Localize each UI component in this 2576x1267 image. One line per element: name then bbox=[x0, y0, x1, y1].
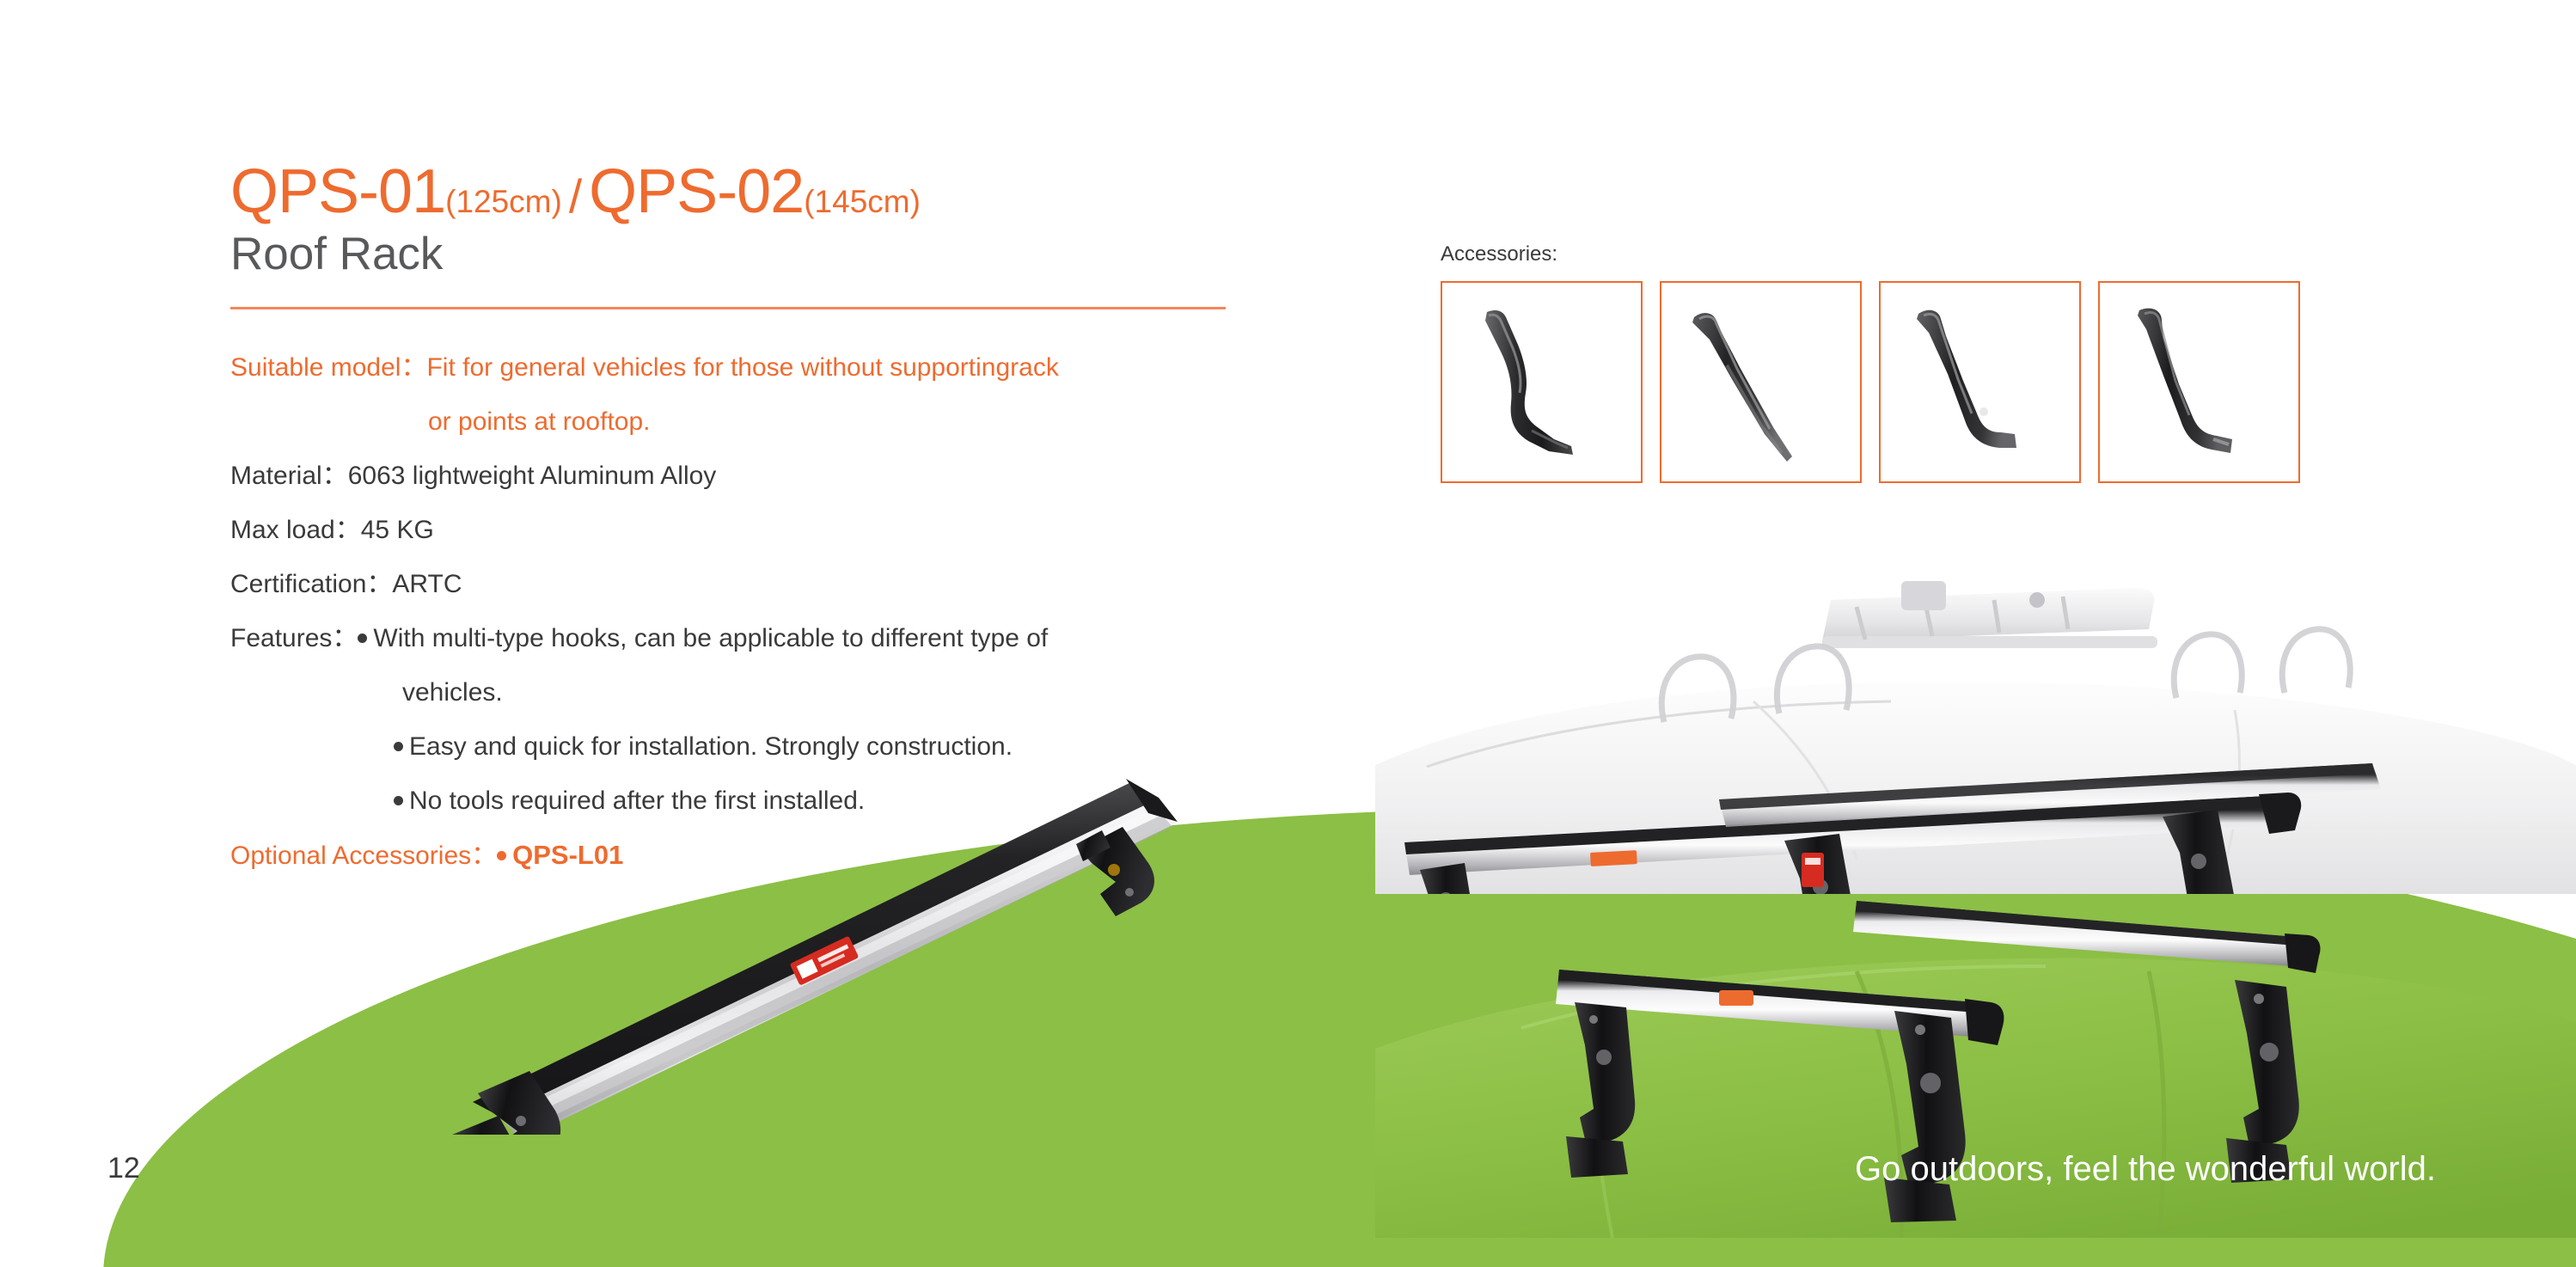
spec-label: Max load： bbox=[230, 516, 361, 544]
spec-value: 45 KG bbox=[361, 516, 434, 544]
spec-value: 6063 lightweight Aluminum Alloy bbox=[348, 462, 717, 490]
spec-label: Certification： bbox=[230, 570, 392, 598]
spec-row-max-load: Max load：45 KG bbox=[230, 503, 1288, 557]
page-title: QPS-01(125cm)/QPS-02(145cm) bbox=[230, 156, 921, 227]
feature-item-2: vehicles. bbox=[402, 678, 503, 707]
footer-tagline: Go outdoors, feel the wonderful world. bbox=[1855, 1150, 2436, 1189]
hook-variant-4-icon bbox=[2100, 283, 2298, 481]
product-photo-roof-rack-with-ladder bbox=[1375, 550, 2576, 894]
feature-item-1: With multi-type hooks, can be applicable… bbox=[373, 624, 1048, 652]
hook-variant-3-icon bbox=[1881, 283, 2079, 481]
spec-row-suitable-model-cont: or points at rooftop. bbox=[230, 395, 1288, 449]
bullet-icon bbox=[394, 742, 403, 751]
page-number: 12 bbox=[107, 1152, 140, 1185]
accessories-row bbox=[1441, 281, 2300, 483]
bullet-icon bbox=[358, 633, 367, 643]
spec-value: ARTC bbox=[392, 570, 462, 598]
title-divider bbox=[230, 307, 1226, 309]
spec-row-suitable-model: Suitable model：Fit for general vehicles … bbox=[230, 340, 1288, 395]
accessories-label: Accessories: bbox=[1441, 242, 1557, 266]
spec-label: Suitable model： bbox=[230, 353, 426, 382]
spec-row-features-cont: vehicles. bbox=[230, 665, 1288, 719]
spec-row-features: Features：With multi-type hooks, can be a… bbox=[230, 611, 1288, 665]
model-1-label: QPS-01 bbox=[230, 157, 445, 226]
accessory-thumbnail-4[interactable] bbox=[2098, 281, 2300, 483]
feature-item-3: Easy and quick for installation. Strongl… bbox=[409, 732, 1013, 761]
model-2-label: QPS-02 bbox=[589, 157, 804, 226]
spec-row-certification: Certification：ARTC bbox=[230, 557, 1288, 611]
accessory-thumbnail-2[interactable] bbox=[1660, 281, 1862, 483]
features-label: Features： bbox=[230, 624, 358, 652]
spec-row-material: Material：6063 lightweight Aluminum Alloy bbox=[230, 449, 1288, 503]
accessory-thumbnail-3[interactable] bbox=[1879, 281, 2081, 483]
model-separator: / bbox=[562, 169, 589, 223]
page-subtitle: Roof Rack bbox=[230, 228, 443, 280]
hook-variant-1-icon bbox=[1442, 283, 1641, 481]
spec-row-feature-2: Easy and quick for installation. Strongl… bbox=[230, 719, 1288, 774]
product-photo-crossbar-diagonal bbox=[370, 774, 1195, 1135]
accessory-thumbnail-1[interactable] bbox=[1441, 281, 1643, 483]
spec-label: Material： bbox=[230, 462, 348, 490]
model-2-size: (145cm) bbox=[804, 184, 921, 219]
catalog-page: QPS-01(125cm)/QPS-02(145cm) Roof Rack Su… bbox=[0, 0, 2576, 1267]
spec-value: Fit for general vehicles for those witho… bbox=[426, 353, 1058, 382]
hook-variant-2-icon bbox=[1661, 283, 1860, 481]
model-1-size: (125cm) bbox=[445, 184, 562, 219]
spec-value: or points at rooftop. bbox=[428, 407, 651, 436]
